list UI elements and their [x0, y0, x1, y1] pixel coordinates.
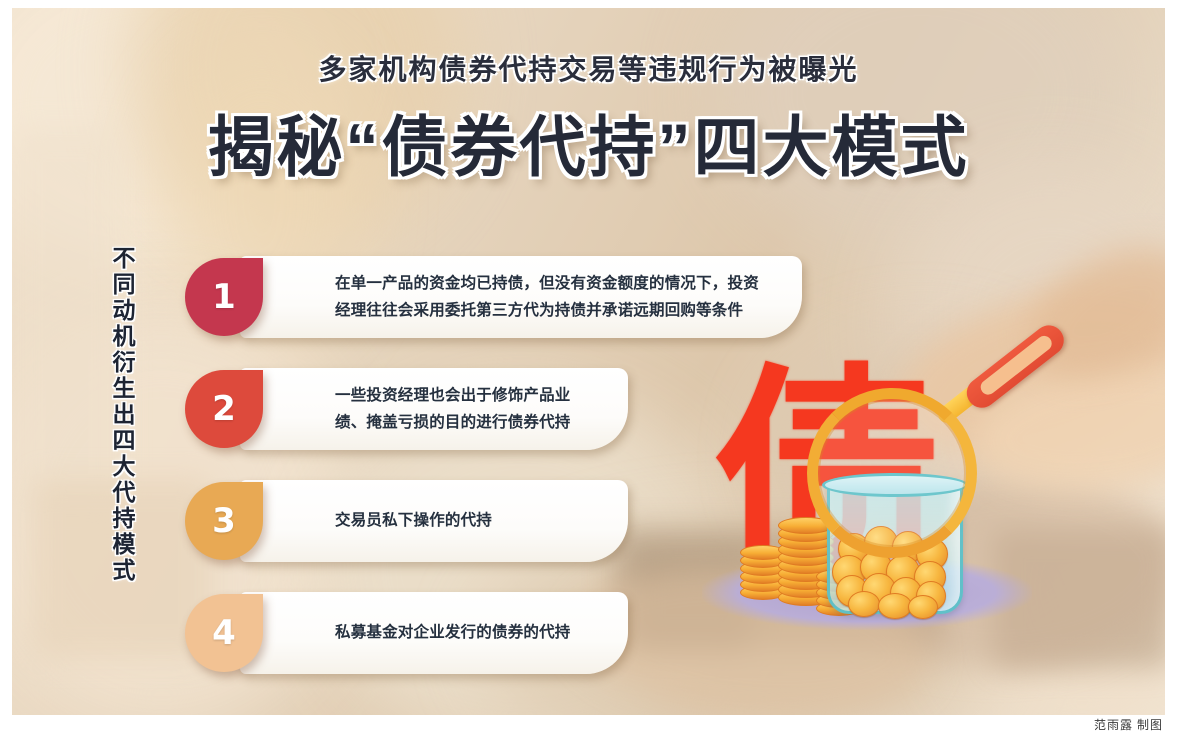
- item-card[interactable]: 交易员私下操作的代持: [240, 480, 628, 562]
- item-text: 私募基金对企业发行的债券的代持: [240, 619, 601, 646]
- item-number-badge: 3: [185, 482, 263, 560]
- item-number: 4: [212, 613, 236, 653]
- item-number-badge: 4: [185, 594, 263, 672]
- poster-canvas: 多家机构债券代持交易等违规行为被曝光 揭秘“债券代持”四大模式 债: [12, 8, 1165, 715]
- item-number: 1: [212, 277, 236, 317]
- item-card[interactable]: 私募基金对企业发行的债券的代持: [240, 592, 628, 674]
- infographic-poster: 多家机构债券代持交易等违规行为被曝光 揭秘“债券代持”四大模式 债: [0, 0, 1177, 737]
- item-number-badge: 2: [185, 370, 263, 448]
- item-text: 在单一产品的资金均已持债，但没有资金额度的情况下，投资经理往往会采用委托第三方代…: [240, 270, 802, 324]
- credit-text: 范雨露 制图: [1094, 716, 1163, 733]
- item-card[interactable]: 一些投资经理也会出于修饰产品业绩、掩盖亏损的目的进行债券代持: [240, 368, 628, 450]
- item-text: 交易员私下操作的代持: [240, 507, 522, 534]
- item-number: 2: [212, 389, 236, 429]
- item-card[interactable]: 在单一产品的资金均已持债，但没有资金额度的情况下，投资经理往往会采用委托第三方代…: [240, 256, 802, 338]
- item-number: 3: [212, 501, 236, 541]
- item-list: 在单一产品的资金均已持债，但没有资金额度的情况下，投资经理往往会采用委托第三方代…: [12, 8, 1165, 715]
- item-text: 一些投资经理也会出于修饰产品业绩、掩盖亏损的目的进行债券代持: [240, 382, 628, 436]
- item-number-badge: 1: [185, 258, 263, 336]
